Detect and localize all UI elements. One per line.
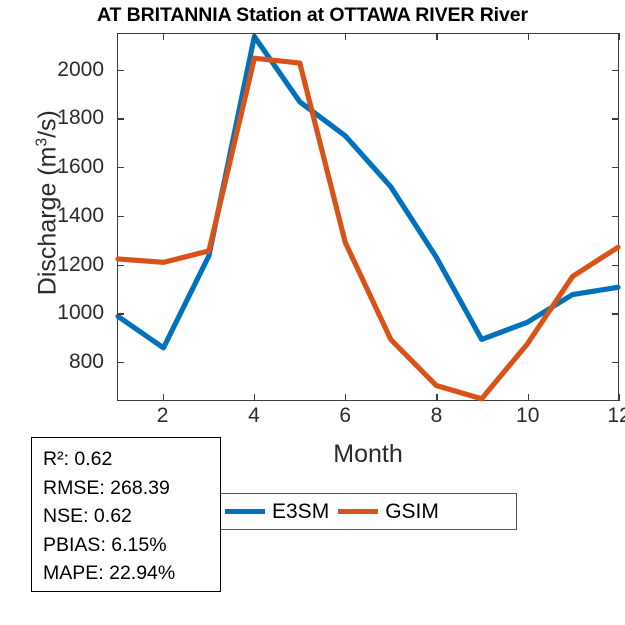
y-axis-title-exponent: 3: [33, 138, 50, 147]
legend-entry-e3sm[interactable]: E3SM: [216, 500, 329, 524]
y-tick-label: 1400: [57, 204, 104, 228]
series-line-e3sm: [118, 36, 618, 347]
x-tick-mark: [619, 394, 620, 401]
x-tick-mark: [254, 394, 255, 401]
y-tick-mark-right: [612, 362, 619, 363]
y-tick-label: 1200: [57, 253, 104, 277]
x-tick-mark-top: [254, 33, 255, 40]
y-tick-mark-right: [612, 265, 619, 266]
x-tick-mark: [528, 394, 529, 401]
x-tick-label: 12: [607, 404, 625, 428]
x-tick-label: 4: [248, 404, 260, 428]
y-tick-mark: [117, 70, 124, 71]
statistic-line: MAPE: 22.94%: [43, 559, 220, 588]
legend-label: E3SM: [272, 500, 329, 524]
x-tick-label: 2: [157, 404, 169, 428]
y-tick-mark: [117, 265, 124, 266]
y-tick-label: 800: [69, 350, 104, 374]
y-axis-title-prefix: Discharge (m: [34, 147, 62, 296]
legend-entry-gsim[interactable]: GSIM: [329, 500, 439, 524]
plot-area: [117, 33, 619, 401]
x-tick-label: 6: [339, 404, 351, 428]
statistic-line: R²: 0.62: [43, 445, 220, 474]
statistic-line: NSE: 0.62: [43, 502, 220, 531]
y-tick-label: 2000: [57, 58, 104, 82]
y-tick-mark-right: [612, 167, 619, 168]
y-tick-mark-right: [612, 216, 619, 217]
legend-label: GSIM: [385, 500, 439, 524]
x-tick-label: 10: [516, 404, 539, 428]
y-tick-mark: [117, 216, 124, 217]
y-axis-title-suffix: /s): [34, 110, 62, 138]
x-tick-mark-top: [436, 33, 437, 40]
legend-swatch-e3sm: [225, 509, 265, 514]
x-tick-mark-top: [345, 33, 346, 40]
x-tick-mark-top: [163, 33, 164, 40]
statistics-box: R²: 0.62RMSE: 268.39NSE: 0.62PBIAS: 6.15…: [31, 437, 221, 592]
x-tick-mark-top: [528, 33, 529, 40]
y-tick-mark: [117, 167, 124, 168]
x-tick-mark: [345, 394, 346, 401]
y-tick-mark: [117, 313, 124, 314]
x-tick-label: 8: [431, 404, 443, 428]
y-tick-mark-right: [612, 313, 619, 314]
x-tick-mark: [163, 394, 164, 401]
y-tick-label: 1800: [57, 106, 104, 130]
y-tick-label: 1600: [57, 155, 104, 179]
y-tick-label: 1000: [57, 301, 104, 325]
x-tick-mark-top: [619, 33, 620, 40]
series-line-gsim: [118, 58, 618, 399]
statistic-line: PBIAS: 6.15%: [43, 531, 220, 560]
figure-canvas: AT BRITANNIA Station at OTTAWA RIVER Riv…: [0, 0, 625, 625]
y-tick-mark-right: [612, 118, 619, 119]
y-tick-mark: [117, 362, 124, 363]
y-axis-title: Discharge (m3/s): [33, 23, 62, 383]
statistic-line: RMSE: 268.39: [43, 474, 220, 503]
series-lines: [118, 34, 618, 400]
y-tick-mark-right: [612, 70, 619, 71]
x-tick-mark: [436, 394, 437, 401]
y-tick-mark: [117, 118, 124, 119]
chart-legend[interactable]: E3SMGSIM: [215, 493, 517, 530]
legend-swatch-gsim: [338, 509, 378, 514]
